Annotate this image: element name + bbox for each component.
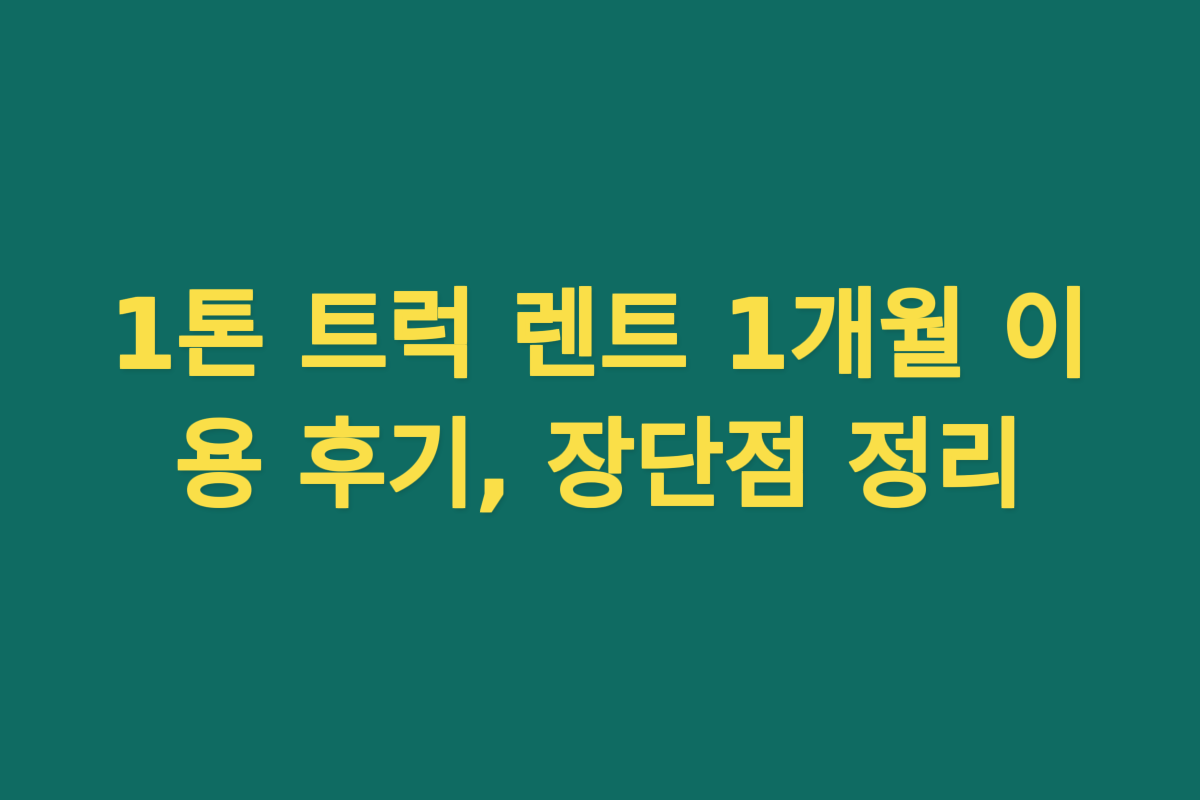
title-line-1: 1톤 트럭 렌트 1개월 이 [95,270,1105,400]
page-title: 1톤 트럭 렌트 1개월 이 용 후기, 장단점 정리 [95,270,1105,530]
title-line-2: 용 후기, 장단점 정리 [95,400,1105,530]
thumbnail-card: 1톤 트럭 렌트 1개월 이 용 후기, 장단점 정리 [0,0,1200,800]
